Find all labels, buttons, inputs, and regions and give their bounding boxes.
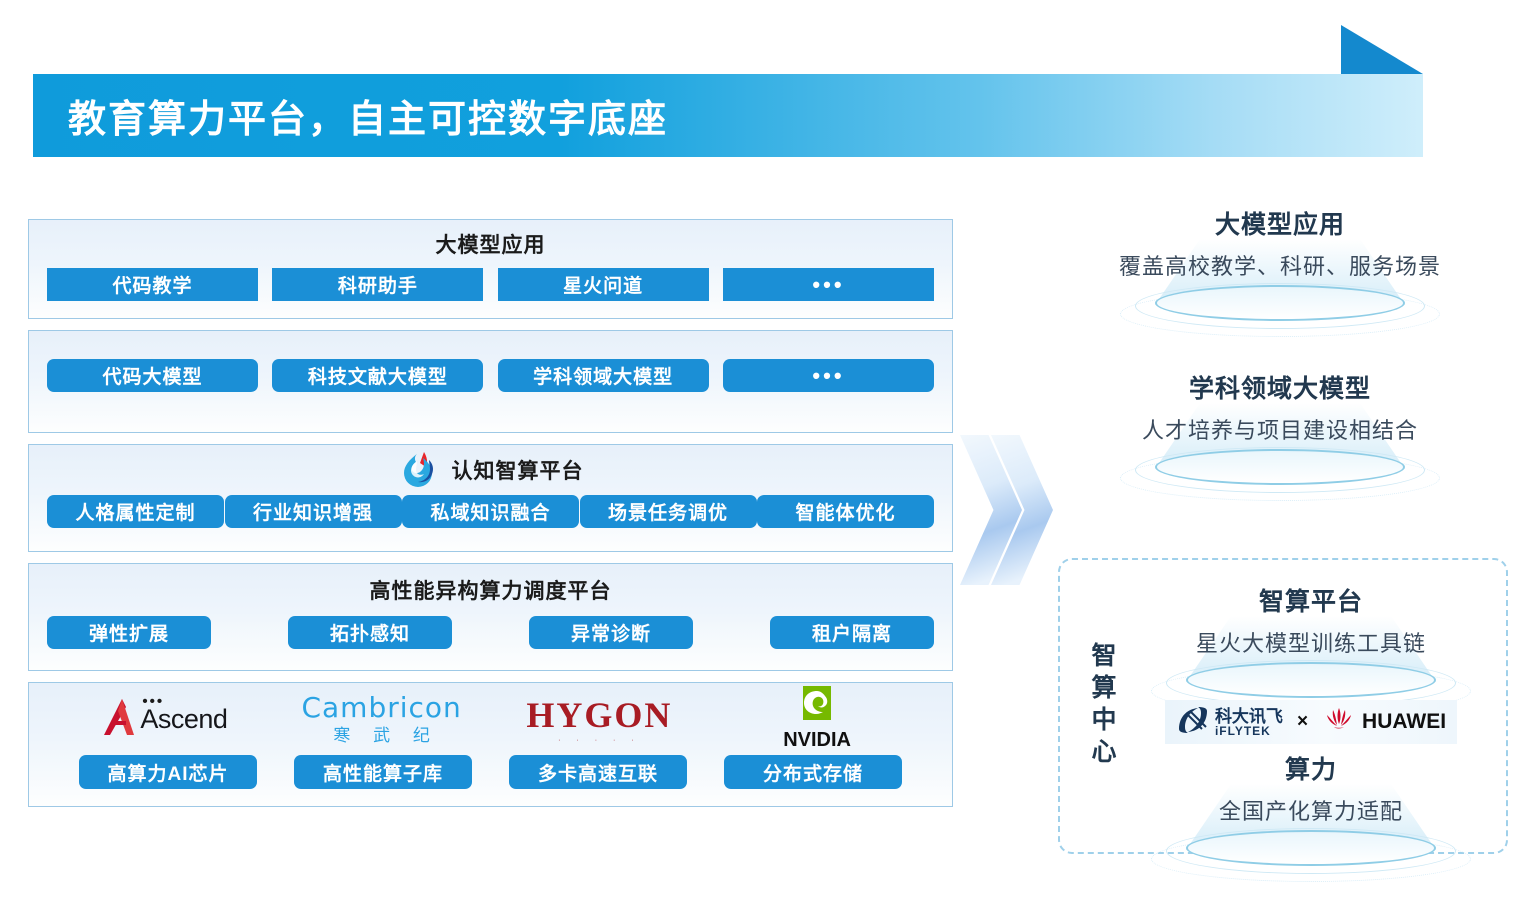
banner-fold-corner (1341, 25, 1423, 74)
vendor-logo-row: ••• Ascend Cambricon 寒 武 纪 HYGON · · · ·… (29, 683, 952, 755)
right-block-title: 算力 (1130, 750, 1492, 786)
pill-sci-literature-model[interactable]: 科技文献大模型 (272, 359, 483, 392)
vendor-ascend: ••• Ascend (55, 683, 273, 755)
iflytek-wordmark-cn: 科大讯飞 (1215, 708, 1283, 725)
card-header: 认知智算平台 (29, 445, 952, 495)
vendor-cambricon: Cambricon 寒 武 纪 (273, 683, 491, 755)
pill-persona-customization[interactable]: 人格属性定制 (47, 495, 224, 528)
card-hardware-vendors: ••• Ascend Cambricon 寒 武 纪 HYGON · · · ·… (28, 682, 953, 807)
card-header: 大模型应用 (29, 220, 952, 268)
pill-tenant-isolation[interactable]: 租户隔离 (770, 616, 934, 649)
cambricon-wordmark-cn: 寒 武 纪 (301, 727, 461, 744)
card-scheduling-platform: 高性能异构算力调度平台 弹性扩展 拓扑感知 异常诊断 租户隔离 (28, 563, 953, 671)
right-block-subtitle: 人才培养与项目建设相结合 (1055, 413, 1505, 445)
iflytek-wordmark-en: iFLYTEK (1215, 725, 1283, 737)
pill-research-assistant[interactable]: 科研助手 (272, 268, 483, 301)
compute-center-box: 智算中心 智算平台 星火大模型训练工具链 (1058, 558, 1508, 854)
huawei-flower-icon (1322, 706, 1356, 739)
pill-domain-model[interactable]: 学科领域大模型 (498, 359, 709, 392)
ascend-dots-icon: ••• (142, 693, 164, 710)
disc-ring-inner (1155, 285, 1405, 321)
ascend-mark-icon (100, 697, 136, 742)
right-block-title: 智算平台 (1130, 582, 1492, 618)
huawei-wordmark: HUAWEI (1362, 710, 1446, 734)
card-large-model-applications: 大模型应用 代码教学 科研助手 星火问道 ••• (28, 219, 953, 319)
hygon-wordmark: HYGON (526, 694, 672, 736)
pill-ai-chips[interactable]: 高算力AI芯片 (79, 755, 257, 789)
pill-code-model[interactable]: 代码大模型 (47, 359, 258, 392)
right-block-subtitle: 星火大模型训练工具链 (1130, 626, 1492, 658)
pill-distributed-storage[interactable]: 分布式存储 (724, 755, 902, 789)
iflytek-mark-icon (1176, 705, 1210, 740)
cambricon-wordmark: Cambricon (301, 694, 461, 722)
card-title: 高性能异构算力调度平台 (370, 575, 612, 605)
left-stack: 大模型应用 代码教学 科研助手 星火问道 ••• 代码大模型 科技文献大模型 学… (28, 219, 953, 818)
right-column: 大模型应用 覆盖高校教学、科研、服务场景 学科领域大模型 人才培养与项目建设相结… (1055, 205, 1505, 487)
pill-multi-card-interconnect[interactable]: 多卡高速互联 (509, 755, 687, 789)
pill-topology-aware[interactable]: 拓扑感知 (288, 616, 452, 649)
pill-operator-library[interactable]: 高性能算子库 (294, 755, 472, 789)
right-block-smart-platform: 智算平台 星火大模型训练工具链 (1130, 582, 1492, 700)
pill-code-teaching[interactable]: 代码教学 (47, 268, 258, 301)
card-title: 大模型应用 (436, 229, 546, 259)
double-chevron-right-icon (960, 435, 1055, 585)
right-block-subtitle: 覆盖高校教学、科研、服务场景 (1055, 249, 1505, 281)
title-banner: 教育算力平台，自主可控数字底座 (33, 74, 1423, 157)
pill-row: 人格属性定制 行业知识增强 私域知识融合 场景任务调优 智能体优化 (29, 495, 952, 528)
compute-center-vertical-label: 智算中心 (1082, 642, 1114, 770)
right-block-subtitle: 全国产化算力适配 (1130, 794, 1492, 826)
nvidia-wordmark: NVIDIA (783, 729, 851, 752)
pill-elastic-scaling[interactable]: 弹性扩展 (47, 616, 211, 649)
nvidia-eye-icon (791, 709, 843, 726)
spark-logo-icon (398, 448, 438, 493)
slide-canvas: 教育算力平台，自主可控数字底座 大模型应用 代码教学 科研助手 星火问道 •••… (0, 0, 1528, 901)
vendor-hygon: HYGON · · · · · (491, 683, 709, 755)
card-large-models: 代码大模型 科技文献大模型 学科领域大模型 ••• (28, 330, 953, 433)
card-cognitive-platform: 认知智算平台 人格属性定制 行业知识增强 私域知识融合 场景任务调优 智能体优化 (28, 444, 953, 552)
right-block-title: 大模型应用 (1055, 205, 1505, 241)
platform-disc-decoration (1130, 822, 1492, 868)
pill-industry-knowledge[interactable]: 行业知识增强 (225, 495, 402, 528)
platform-disc-decoration (1055, 277, 1505, 323)
partner-logo-strip: 科大讯飞 iFLYTEK × (1165, 700, 1457, 744)
pill-row: 弹性扩展 拓扑感知 异常诊断 租户隔离 (29, 616, 952, 649)
huawei-logo: HUAWEI (1322, 706, 1446, 739)
hygon-underdots-icon: · · · · · (526, 737, 672, 744)
disc-ring-inner (1186, 662, 1436, 698)
pill-agent-optimization[interactable]: 智能体优化 (757, 495, 934, 528)
disc-ring-inner (1186, 830, 1436, 866)
pill-row: 高算力AI芯片 高性能算子库 多卡高速互联 分布式存储 (29, 755, 952, 789)
platform-disc-decoration (1130, 654, 1492, 700)
right-block-compute-power: 算力 全国产化算力适配 (1130, 750, 1492, 868)
pill-more[interactable]: ••• (723, 268, 934, 301)
right-block-title: 学科领域大模型 (1055, 369, 1505, 405)
pill-spark-qa[interactable]: 星火问道 (498, 268, 709, 301)
vendor-nvidia: NVIDIA (708, 683, 926, 755)
pill-more[interactable]: ••• (723, 359, 934, 392)
pill-anomaly-diagnosis[interactable]: 异常诊断 (529, 616, 693, 649)
pill-private-knowledge[interactable]: 私域知识融合 (402, 495, 579, 528)
card-header: 高性能异构算力调度平台 (29, 564, 952, 616)
right-block-domain-models: 学科领域大模型 人才培养与项目建设相结合 (1055, 369, 1505, 487)
disc-ring-inner (1155, 449, 1405, 485)
right-block-applications: 大模型应用 覆盖高校教学、科研、服务场景 (1055, 205, 1505, 323)
pill-scenario-tuning[interactable]: 场景任务调优 (580, 495, 757, 528)
card-title: 认知智算平台 (452, 455, 584, 485)
pill-row: 代码教学 科研助手 星火问道 ••• (29, 268, 952, 301)
compute-center-content: 智算平台 星火大模型训练工具链 (1130, 582, 1492, 838)
page-title: 教育算力平台，自主可控数字底座 (68, 88, 668, 143)
partner-separator: × (1297, 711, 1308, 733)
iflytek-logo: 科大讯飞 iFLYTEK (1176, 705, 1283, 740)
pill-row: 代码大模型 科技文献大模型 学科领域大模型 ••• (29, 331, 952, 392)
platform-disc-decoration (1055, 441, 1505, 487)
